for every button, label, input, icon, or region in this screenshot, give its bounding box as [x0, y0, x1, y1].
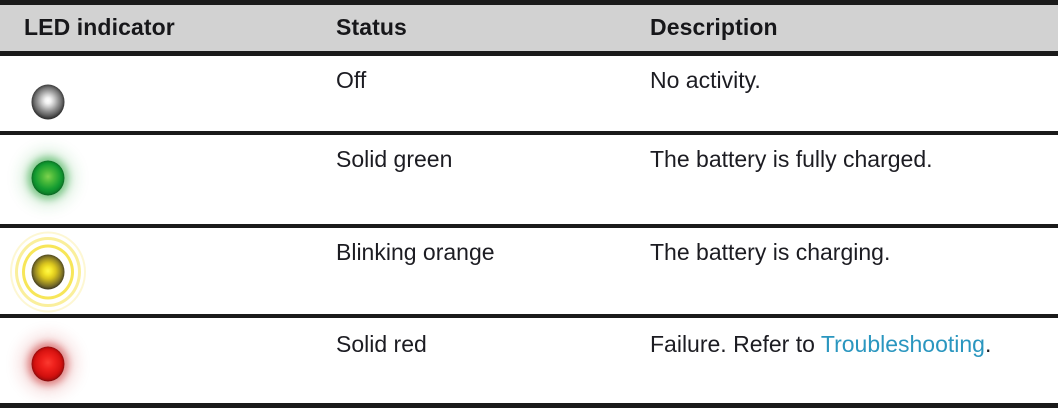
- table-row: Solid green The battery is fully charged…: [0, 135, 1058, 224]
- led-lamp: [32, 255, 65, 290]
- table-row: Off No activity.: [0, 56, 1058, 131]
- row-status-text: Solid red: [336, 327, 636, 361]
- row-description-text: The battery is charging.: [650, 235, 1050, 269]
- table-header-row: LED indicator Status Description: [0, 5, 1058, 51]
- row-status-text: Off: [336, 63, 636, 97]
- row-status-text: Solid green: [336, 142, 636, 176]
- row-description-text: Failure. Refer to Troubleshooting.: [650, 327, 1050, 361]
- table-row: Blinking orange The battery is charging.: [0, 228, 1058, 314]
- led-red-icon: [0, 316, 96, 412]
- troubleshooting-link[interactable]: Troubleshooting: [821, 331, 985, 357]
- led-lamp: [32, 85, 65, 120]
- row-description-text: No activity.: [650, 63, 1050, 97]
- table-bottom-rule: [0, 403, 1058, 408]
- column-header-led-indicator: LED indicator: [24, 14, 175, 41]
- row-description-text: The battery is fully charged.: [650, 142, 1058, 176]
- led-indicator-table-page: LED indicator Status Description Off No …: [0, 0, 1058, 419]
- column-header-description: Description: [650, 14, 778, 41]
- led-lamp: [32, 347, 65, 382]
- description-trailing-punctuation: .: [985, 331, 991, 357]
- led-orange-icon: [0, 224, 96, 320]
- column-header-status: Status: [336, 14, 407, 41]
- description-lead-text: Failure. Refer to: [650, 331, 821, 357]
- led-lamp: [32, 161, 65, 196]
- table-row: Solid red Failure. Refer to Troubleshoot…: [0, 318, 1058, 403]
- row-status-text: Blinking orange: [336, 235, 636, 269]
- led-green-icon: [0, 130, 96, 226]
